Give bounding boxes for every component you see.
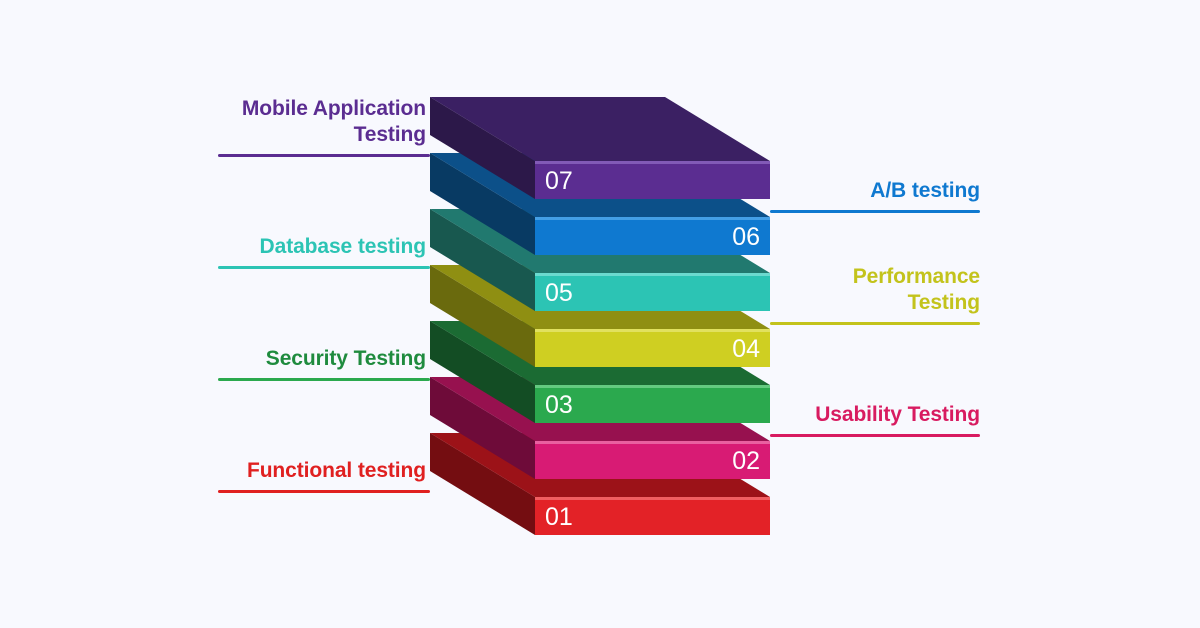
slab-front-highlight	[535, 161, 770, 164]
slab-front-highlight	[535, 217, 770, 220]
layer-number-06: 06	[732, 223, 760, 251]
callout-label-02[interactable]: Usability Testing	[778, 402, 980, 428]
layer-number-04: 04	[732, 335, 760, 363]
layer-number-03: 03	[545, 391, 573, 419]
callout-connector-03	[218, 378, 430, 381]
callout-connector-07	[218, 154, 430, 157]
layer-number-01: 01	[545, 503, 573, 531]
callout-connector-06	[770, 210, 980, 213]
slab-front-highlight	[535, 273, 770, 276]
callout-connector-01	[218, 490, 430, 493]
callout-label-01[interactable]: Functional testing	[218, 458, 426, 484]
slab-front-highlight	[535, 385, 770, 388]
slab-front-highlight	[535, 329, 770, 332]
callout-connector-02	[770, 434, 980, 437]
infographic-canvas: 01020304050607 Mobile Application Testin…	[0, 0, 1200, 628]
callout-label-04[interactable]: Performance Testing	[778, 264, 980, 316]
stacked-layers-graphic: 01020304050607	[0, 0, 1200, 628]
callout-label-03[interactable]: Security Testing	[218, 346, 426, 372]
layer-number-07: 07	[545, 167, 573, 195]
slab-front-highlight	[535, 497, 770, 500]
callout-label-06[interactable]: A/B testing	[778, 178, 980, 204]
layer-number-02: 02	[732, 447, 760, 475]
layer-number-05: 05	[545, 279, 573, 307]
slab-front-highlight	[535, 441, 770, 444]
callout-label-05[interactable]: Database testing	[218, 234, 426, 260]
callout-label-07[interactable]: Mobile Application Testing	[218, 96, 426, 148]
callout-connector-05	[218, 266, 430, 269]
callout-connector-04	[770, 322, 980, 325]
